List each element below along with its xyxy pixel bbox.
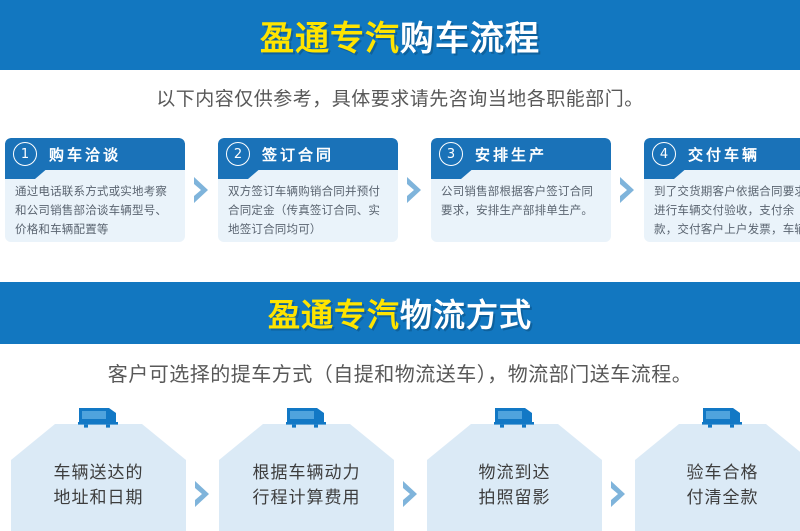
logistics-banner: 盈通专汽物流方式 <box>0 282 800 344</box>
logistics-card-2-line2: 行程计算费用 <box>219 486 394 511</box>
step-card-2-header: 2 签订合同 <box>218 138 398 170</box>
logistics-card-2-line1: 根据车辆动力 <box>219 461 394 486</box>
truck-icon <box>78 406 120 430</box>
logistics-card-1-line1: 车辆送达的 <box>11 461 186 486</box>
step-card-1-header: 1 购车洽谈 <box>5 138 185 170</box>
step-card-4-header: 4 交付车辆 <box>644 138 800 170</box>
chevron-right-icon <box>401 481 421 507</box>
purchase-banner: 盈通专汽购车流程 <box>0 0 800 70</box>
logistics-card-1-line2: 地址和日期 <box>11 486 186 511</box>
step-card-2[interactable]: 2 签订合同 双方签订车辆购销合同并预付合同定金（传真签订合同、实地签订合同均可… <box>218 138 398 242</box>
step-number-badge-2: 2 <box>226 142 250 166</box>
chevron-right-icon <box>405 177 425 203</box>
step-number-badge-3: 3 <box>439 142 463 166</box>
step-number-badge-1: 1 <box>13 142 37 166</box>
logistics-left-spacer <box>0 406 11 531</box>
purchase-banner-rest: 购车流程 <box>400 19 540 59</box>
step-arrow-1 <box>185 138 218 242</box>
logistics-subtitle: 客户可选择的提车方式（自提和物流送车），物流部门送车流程。 <box>0 358 800 387</box>
logistics-steps-row: 车辆送达的 地址和日期 根据车辆动力 行程计算费用 <box>0 406 800 531</box>
logistics-arrow-3 <box>602 406 635 531</box>
logistics-card-4-line2: 付清全款 <box>635 486 800 511</box>
step-card-3[interactable]: 3 安排生产 公司销售部根据客户签订合同要求，安排生产部排单生产。 <box>431 138 611 242</box>
logistics-card-4[interactable]: 验车合格 付清全款 <box>635 406 800 531</box>
chevron-right-icon <box>618 177 638 203</box>
step-title-3: 安排生产 <box>475 144 547 165</box>
logistics-card-1[interactable]: 车辆送达的 地址和日期 <box>11 406 186 531</box>
logistics-card-3-line2: 拍照留影 <box>427 486 602 511</box>
truck-icon <box>494 406 536 430</box>
logistics-card-3[interactable]: 物流到达 拍照留影 <box>427 406 602 531</box>
step-number-badge-4: 4 <box>652 142 676 166</box>
chevron-right-icon <box>609 481 629 507</box>
logistics-card-3-label: 物流到达 拍照留影 <box>427 461 602 510</box>
purchase-logistics-infographic: 盈通专汽购车流程 以下内容仅供参考，具体要求请先咨询当地各职能部门。 1 购车洽… <box>0 0 800 531</box>
logistics-arrow-2 <box>394 406 427 531</box>
chevron-right-icon <box>193 481 213 507</box>
step-title-4: 交付车辆 <box>688 144 760 165</box>
logistics-card-4-line1: 验车合格 <box>635 461 800 486</box>
logistics-card-4-label: 验车合格 付清全款 <box>635 461 800 510</box>
purchase-subtitle: 以下内容仅供参考，具体要求请先咨询当地各职能部门。 <box>0 84 800 111</box>
step-title-1: 购车洽谈 <box>49 144 121 165</box>
purchase-banner-brand: 盈通专汽 <box>260 19 400 59</box>
logistics-banner-rest: 物流方式 <box>400 296 532 334</box>
truck-icon <box>286 406 328 430</box>
logistics-card-2[interactable]: 根据车辆动力 行程计算费用 <box>219 406 394 531</box>
step-body-1: 通过电话联系方式或实地考察和公司销售部洽谈车辆型号、价格和车辆配置等 <box>5 170 185 239</box>
step-card-3-header: 3 安排生产 <box>431 138 611 170</box>
step-body-2: 双方签订车辆购销合同并预付合同定金（传真签订合同、实地签订合同均可） <box>218 170 398 239</box>
step-arrow-3 <box>611 138 644 242</box>
truck-icon <box>702 406 744 430</box>
logistics-card-2-label: 根据车辆动力 行程计算费用 <box>219 461 394 510</box>
chevron-right-icon <box>192 177 212 203</box>
step-body-4: 到了交货期客户依据合同要求进行车辆交付验收，支付余款，交付客户上户发票，车辆合格… <box>644 170 800 242</box>
step-card-1[interactable]: 1 购车洽谈 通过电话联系方式或实地考察和公司销售部洽谈车辆型号、价格和车辆配置… <box>5 138 185 242</box>
logistics-banner-brand: 盈通专汽 <box>268 296 400 334</box>
step-card-4[interactable]: 4 交付车辆 到了交货期客户依据合同要求进行车辆交付验收，支付余款，交付客户上户… <box>644 138 800 242</box>
logistics-card-3-line1: 物流到达 <box>427 461 602 486</box>
logistics-banner-title: 盈通专汽物流方式 <box>268 290 532 336</box>
logistics-card-1-label: 车辆送达的 地址和日期 <box>11 461 186 510</box>
step-arrow-2 <box>398 138 431 242</box>
purchase-steps-row: 1 购车洽谈 通过电话联系方式或实地考察和公司销售部洽谈车辆型号、价格和车辆配置… <box>0 138 800 248</box>
purchase-banner-title: 盈通专汽购车流程 <box>260 11 540 60</box>
logistics-arrow-1 <box>186 406 219 531</box>
step-title-2: 签订合同 <box>262 144 334 165</box>
